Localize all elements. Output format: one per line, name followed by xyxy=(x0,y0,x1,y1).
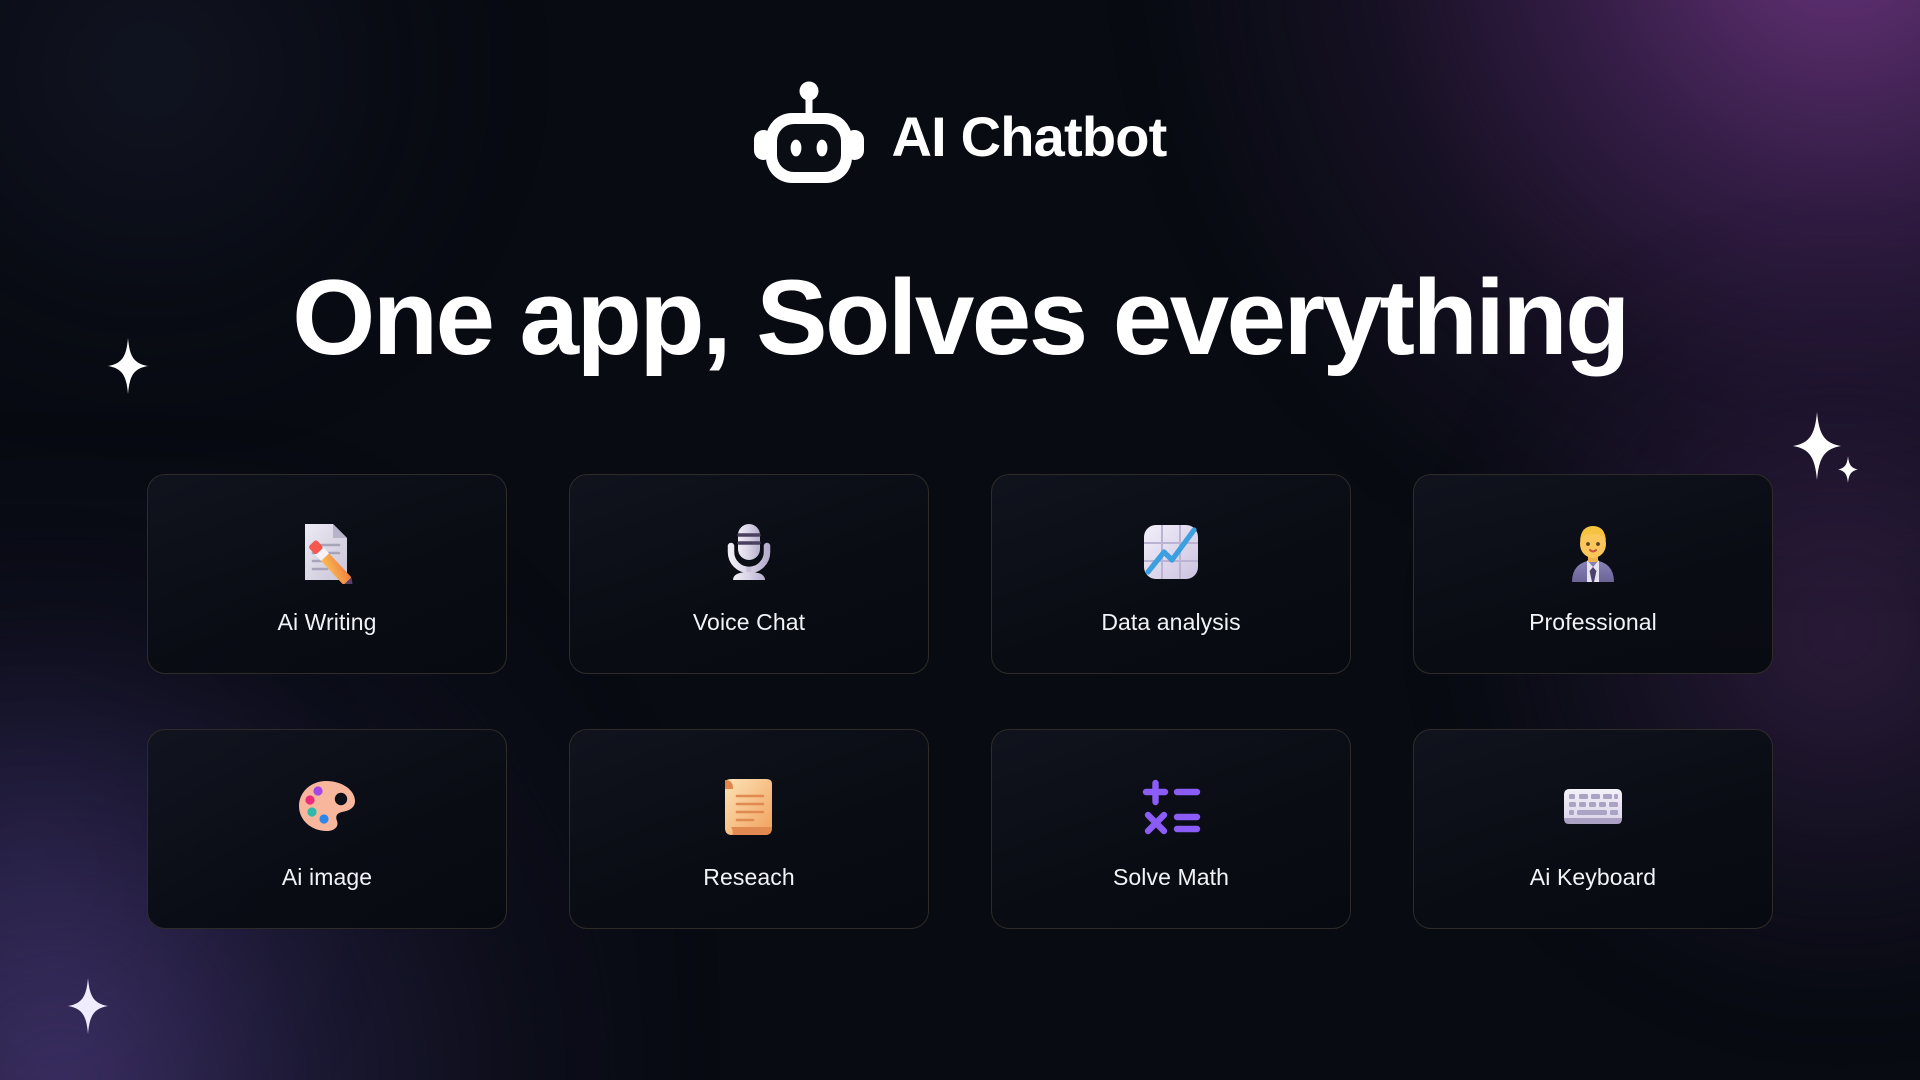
feature-card-voice-chat[interactable]: Voice Chat xyxy=(569,474,929,674)
feature-card-reseach[interactable]: Reseach xyxy=(569,729,929,929)
feature-label: Solve Math xyxy=(1113,866,1229,889)
brand-header: AI Chatbot xyxy=(753,78,1166,195)
feature-card-data-analysis[interactable]: Data analysis xyxy=(991,474,1351,674)
robot-icon xyxy=(753,78,865,195)
feature-label: Professional xyxy=(1529,611,1657,634)
page-title: One app, Solves everything xyxy=(292,261,1628,374)
math-symbols-icon xyxy=(1134,770,1208,844)
memo-pencil-icon xyxy=(290,515,364,589)
feature-card-ai-keyboard[interactable]: Ai Keyboard xyxy=(1413,729,1773,929)
chart-increasing-icon xyxy=(1134,515,1208,589)
page-background: AI Chatbot One app, Solves everything xyxy=(0,0,1920,1080)
brand-name: AI Chatbot xyxy=(891,109,1166,165)
feature-label: Voice Chat xyxy=(693,611,805,634)
artist-palette-icon xyxy=(290,770,364,844)
keyboard-icon xyxy=(1556,770,1630,844)
feature-label: Ai Keyboard xyxy=(1530,866,1656,889)
studio-microphone-icon xyxy=(712,515,786,589)
feature-grid: Ai Writing xyxy=(147,474,1773,929)
scroll-icon xyxy=(712,770,786,844)
feature-label: Ai Writing xyxy=(278,611,377,634)
feature-label: Reseach xyxy=(703,866,794,889)
feature-card-ai-writing[interactable]: Ai Writing xyxy=(147,474,507,674)
feature-card-ai-image[interactable]: Ai image xyxy=(147,729,507,929)
feature-card-professional[interactable]: Professional xyxy=(1413,474,1773,674)
office-worker-icon xyxy=(1556,515,1630,589)
feature-label: Data analysis xyxy=(1101,611,1240,634)
feature-card-solve-math[interactable]: Solve Math xyxy=(991,729,1351,929)
feature-label: Ai image xyxy=(282,866,372,889)
